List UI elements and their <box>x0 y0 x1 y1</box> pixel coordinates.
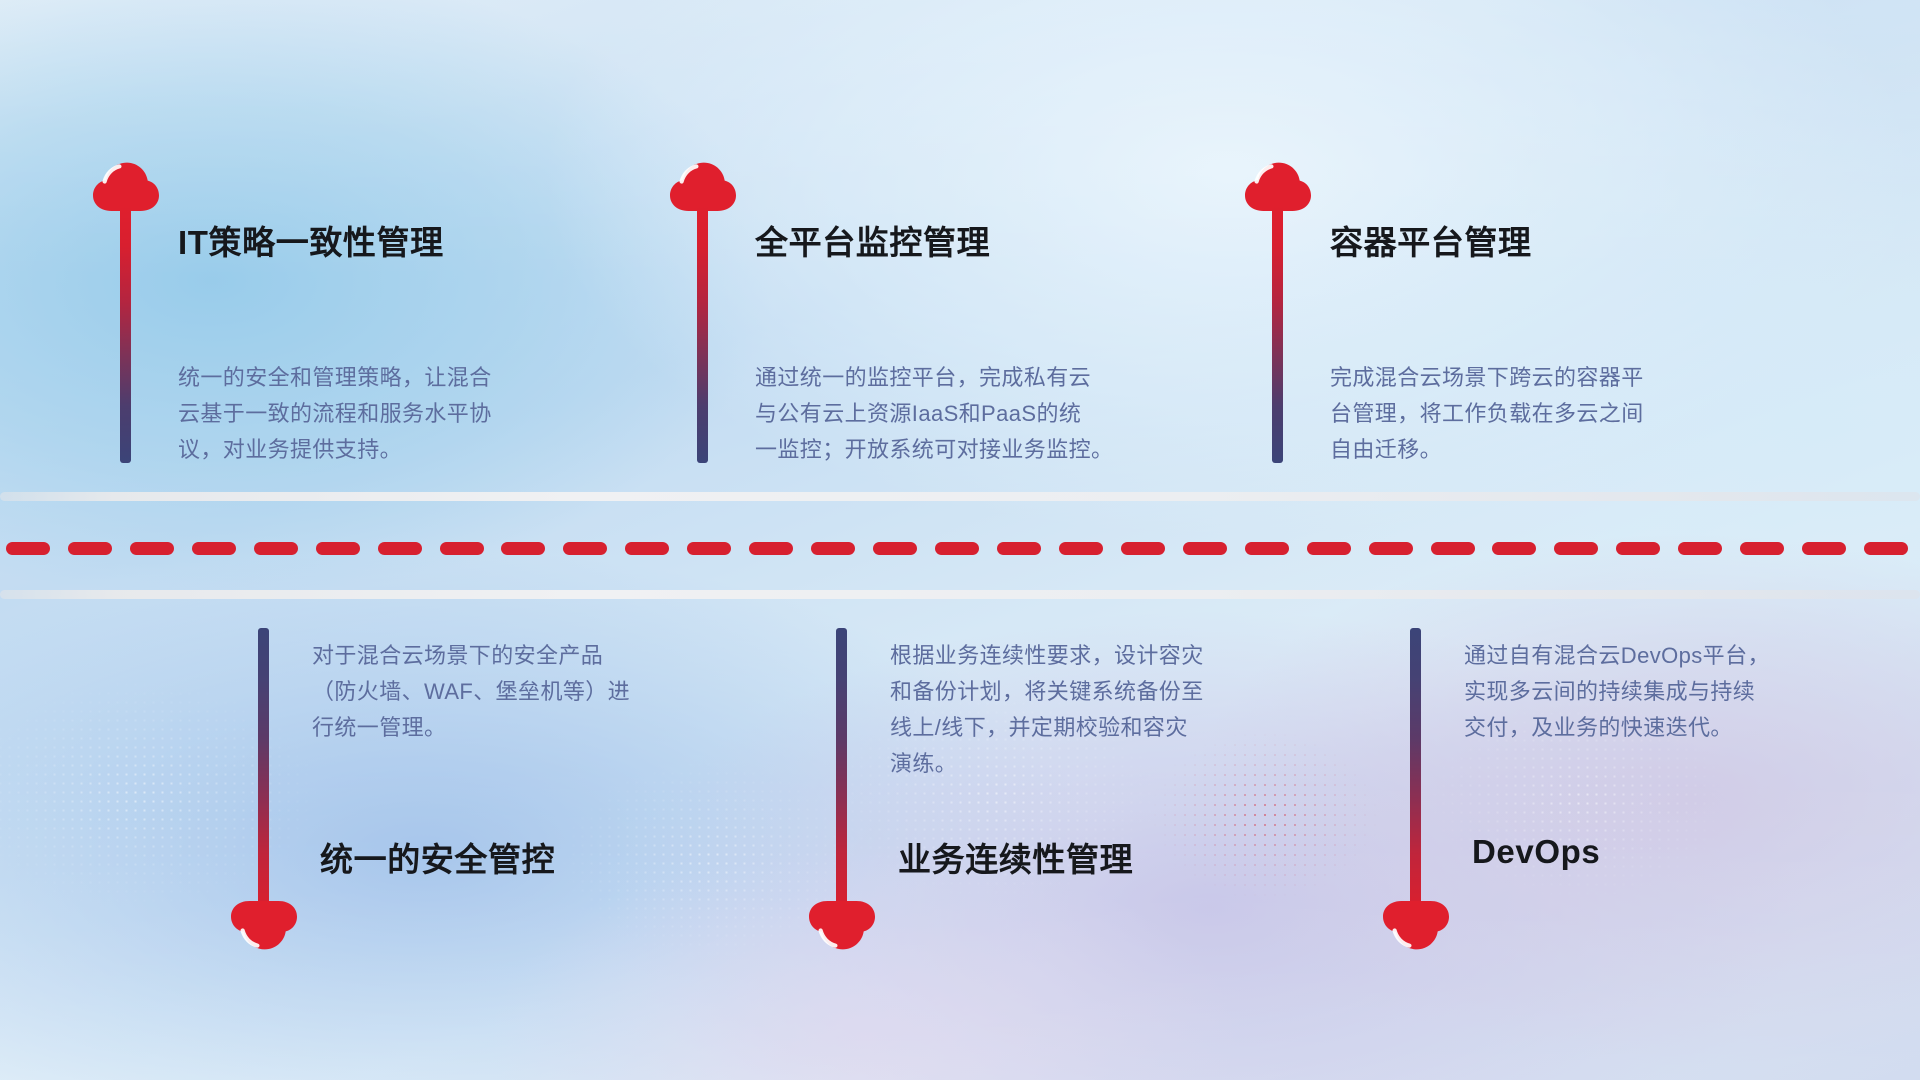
divider-dash <box>625 542 669 555</box>
card-body-monitoring: 通过统一的监控平台，完成私有云 与公有云上资源IaaS和PaaS的统 一监控；开… <box>755 360 1205 468</box>
divider-dash <box>749 542 793 555</box>
card-body-security: 对于混合云场景下的安全产品 （防火墙、WAF、堡垒机等）进 行统一管理。 <box>312 638 752 746</box>
divider-dash <box>501 542 545 555</box>
card-title-security: 统一的安全管控 <box>320 833 555 881</box>
divider-dash <box>378 542 422 555</box>
divider-dash <box>1121 542 1165 555</box>
divider-dash <box>1616 542 1660 555</box>
card-title-monitoring: 全平台监控管理 <box>755 216 990 264</box>
divider-dash <box>254 542 298 555</box>
divider-dash <box>1059 542 1103 555</box>
card-title-devops: DevOps <box>1472 833 1600 871</box>
pin-stem-continuity <box>836 628 847 904</box>
pin-stem-security <box>258 628 269 904</box>
divider-dash <box>6 542 50 555</box>
divider-dash <box>1183 542 1227 555</box>
divider-dash <box>997 542 1041 555</box>
card-body-it-policy: 统一的安全和管理策略，让混合 云基于一致的流程和服务水平协 议，对业务提供支持。 <box>178 360 618 468</box>
pin-stem-container <box>1272 205 1283 463</box>
card-body-devops: 通过自有混合云DevOps平台， 实现多云间的持续集成与持续 交付，及业务的快速… <box>1464 638 1894 746</box>
divider-dash <box>1307 542 1351 555</box>
card-title-continuity: 业务连续性管理 <box>898 833 1133 881</box>
infographic-canvas: IT策略一致性管理 统一的安全和管理策略，让混合 云基于一致的流程和服务水平协 … <box>0 0 1920 1080</box>
divider-dash <box>192 542 236 555</box>
divider-dash <box>440 542 484 555</box>
card-body-continuity: 根据业务连续性要求，设计容灾 和备份计划，将关键系统备份至 线上/线下，并定期校… <box>890 638 1340 782</box>
divider-line-bottom <box>0 590 1920 599</box>
divider-dash <box>1740 542 1784 555</box>
pin-stem-devops <box>1410 628 1421 904</box>
divider-dash <box>1431 542 1475 555</box>
cloud-pin-icon-devops <box>1381 900 1451 952</box>
divider-dash <box>316 542 360 555</box>
divider-dash <box>130 542 174 555</box>
card-title-container: 容器平台管理 <box>1330 216 1532 264</box>
divider-line-top <box>0 492 1920 501</box>
divider-dash <box>935 542 979 555</box>
divider-dash <box>1492 542 1536 555</box>
divider-dash <box>1554 542 1598 555</box>
cloud-pin-icon-security <box>229 900 299 952</box>
divider-dash <box>811 542 855 555</box>
divider-dash <box>563 542 607 555</box>
divider-dash <box>1864 542 1908 555</box>
cloud-pin-icon-continuity <box>807 900 877 952</box>
divider-dash <box>1802 542 1846 555</box>
card-body-container: 完成混合云场景下跨云的容器平 台管理，将工作负载在多云之间 自由迁移。 <box>1330 360 1770 468</box>
divider-dash <box>873 542 917 555</box>
divider-dash <box>1245 542 1289 555</box>
divider-dashed-line <box>0 542 1920 555</box>
pin-stem-it-policy <box>120 205 131 463</box>
divider-dash <box>687 542 731 555</box>
card-title-it-policy: IT策略一致性管理 <box>178 216 444 264</box>
divider-dash <box>1369 542 1413 555</box>
pin-stem-monitoring <box>697 205 708 463</box>
divider-dash <box>1678 542 1722 555</box>
divider-dash <box>68 542 112 555</box>
